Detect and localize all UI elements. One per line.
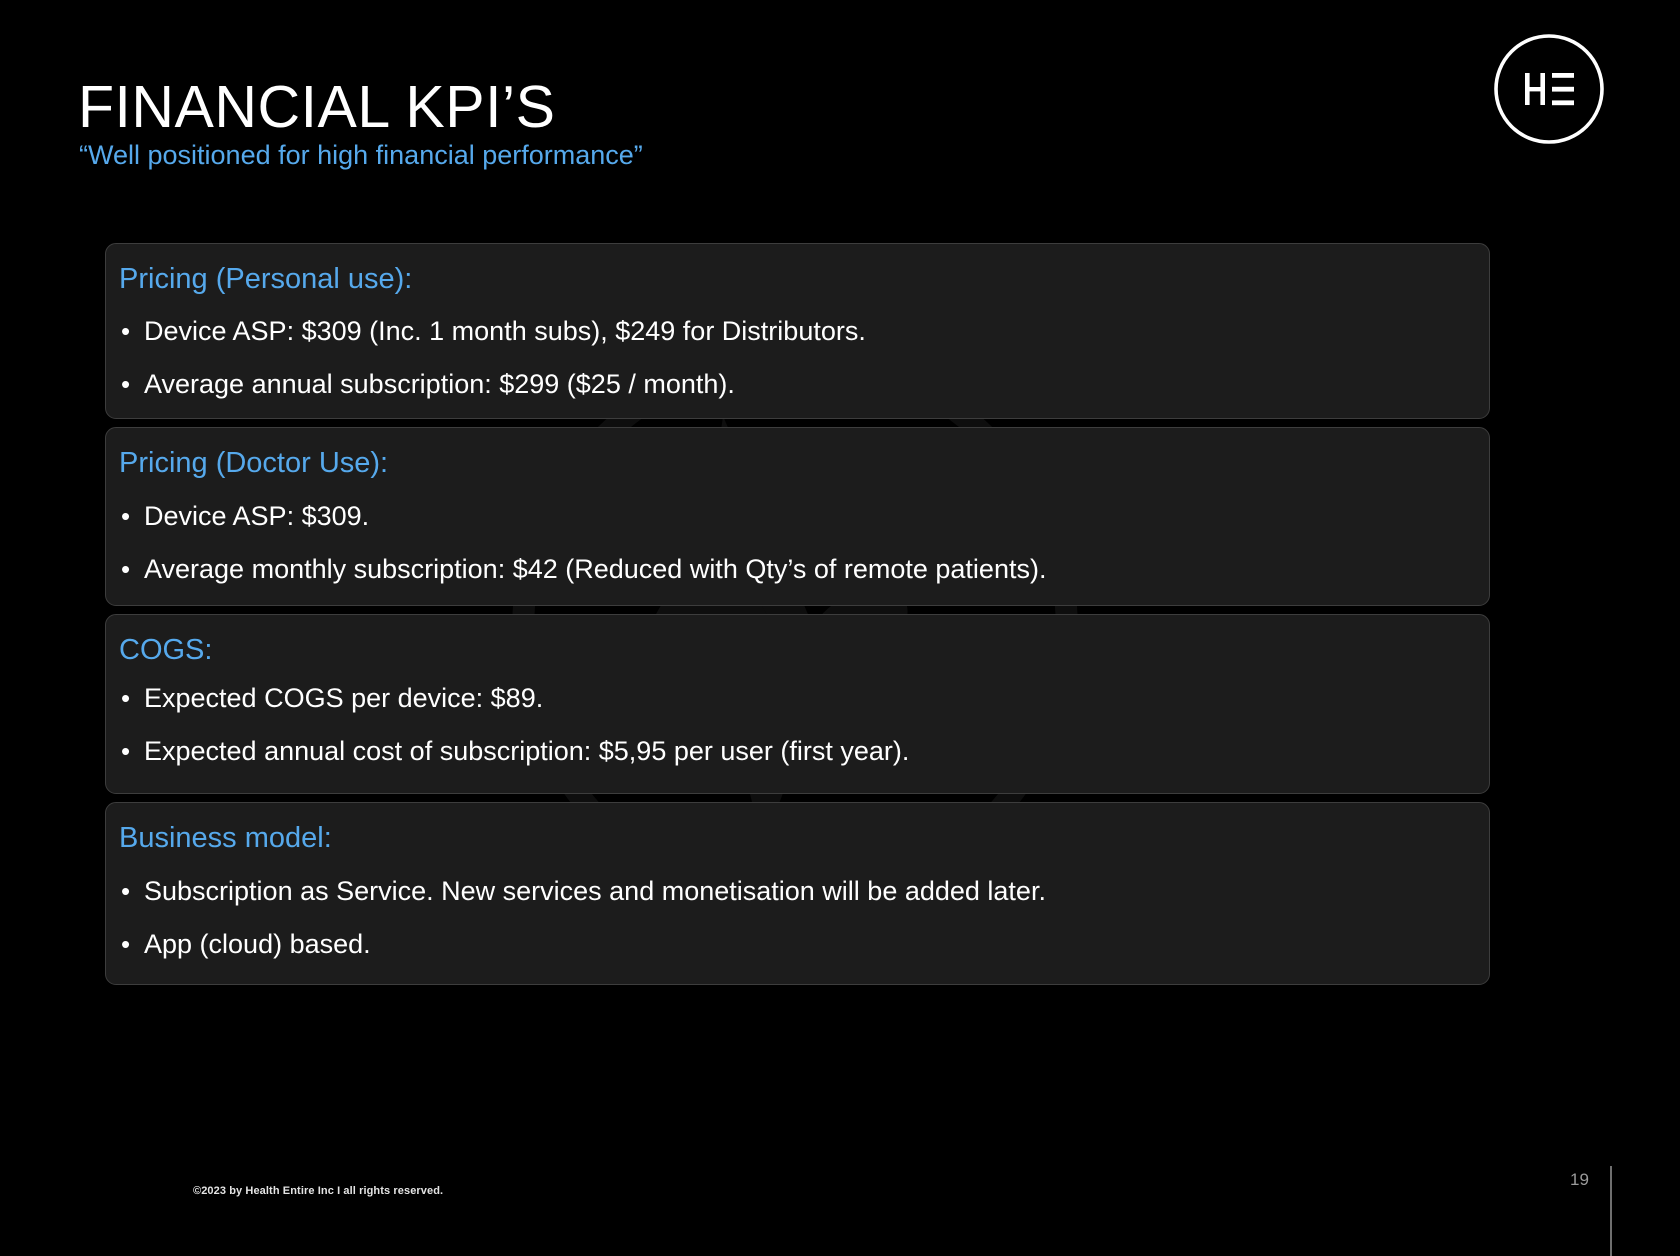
- bullet-item: • Subscription as Service. New services …: [106, 874, 1489, 909]
- footer-divider: [1610, 1166, 1612, 1256]
- bullet-dot-icon: •: [118, 499, 144, 534]
- footer-copyright: ©2023 by Health Entire Inc I all rights …: [193, 1185, 443, 1197]
- bullet-text: Expected COGS per device: $89.: [144, 681, 543, 716]
- box-heading: Pricing (Doctor Use):: [106, 442, 1489, 482]
- bullet-dot-icon: •: [118, 734, 144, 769]
- kpi-box-list: Pricing (Personal use): • Device ASP: $3…: [105, 243, 1490, 993]
- box-heading: COGS:: [106, 629, 1489, 669]
- bullet-dot-icon: •: [118, 681, 144, 716]
- bullet-item: • Expected COGS per device: $89.: [106, 681, 1489, 716]
- bullet-text: Device ASP: $309.: [144, 499, 369, 534]
- health-entire-logo: [1492, 32, 1606, 146]
- bullet-dot-icon: •: [118, 874, 144, 909]
- kpi-box-pricing-doctor: Pricing (Doctor Use): • Device ASP: $309…: [105, 427, 1490, 605]
- bullet-text: Subscription as Service. New services an…: [144, 874, 1046, 909]
- box-heading: Business model:: [106, 817, 1489, 857]
- bullet-item: • App (cloud) based.: [106, 927, 1489, 962]
- kpi-box-pricing-personal: Pricing (Personal use): • Device ASP: $3…: [105, 243, 1490, 419]
- page-number: 19: [1570, 1170, 1589, 1190]
- kpi-box-business-model: Business model: • Subscription as Servic…: [105, 802, 1490, 984]
- kpi-box-cogs: COGS: • Expected COGS per device: $89. •…: [105, 614, 1490, 794]
- bullet-text: Average annual subscription: $299 ($25 /…: [144, 367, 735, 402]
- bullet-item: • Device ASP: $309.: [106, 499, 1489, 534]
- bullet-dot-icon: •: [118, 927, 144, 962]
- bullet-dot-icon: •: [118, 367, 144, 402]
- bullet-dot-icon: •: [118, 314, 144, 349]
- slide-subtitle: “Well positioned for high financial perf…: [79, 140, 643, 171]
- bullet-text: App (cloud) based.: [144, 927, 371, 962]
- bullet-item: • Average annual subscription: $299 ($25…: [106, 367, 1489, 402]
- bullet-text: Average monthly subscription: $42 (Reduc…: [144, 552, 1046, 587]
- box-heading: Pricing (Personal use):: [106, 258, 1489, 298]
- slide-title: FINANCIAL KPI’S: [78, 73, 555, 141]
- bullet-item: • Device ASP: $309 (Inc. 1 month subs), …: [106, 314, 1489, 349]
- bullet-text: Expected annual cost of subscription: $5…: [144, 734, 909, 769]
- bullet-text: Device ASP: $309 (Inc. 1 month subs), $2…: [144, 314, 866, 349]
- bullet-item: • Expected annual cost of subscription: …: [106, 734, 1489, 769]
- bullet-item: • Average monthly subscription: $42 (Red…: [106, 552, 1489, 587]
- bullet-dot-icon: •: [118, 552, 144, 587]
